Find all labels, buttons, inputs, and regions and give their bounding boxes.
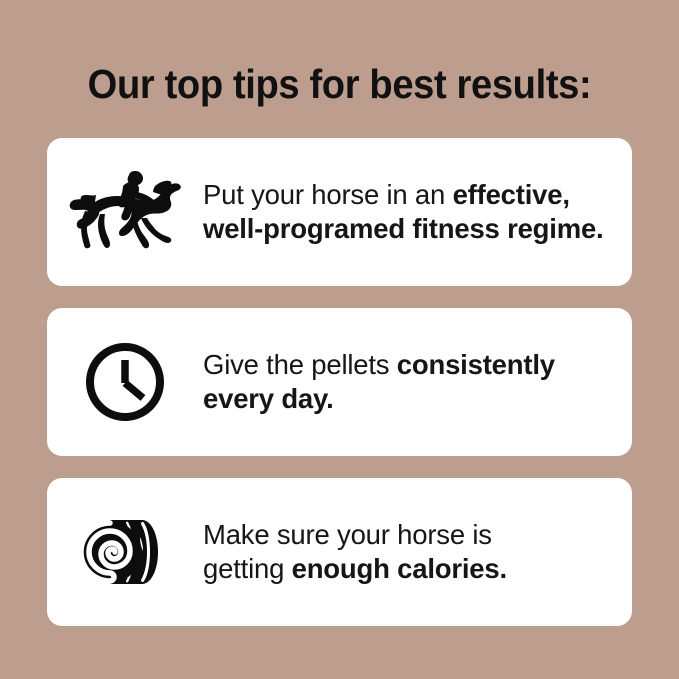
tip-line: Make sure your horse is bbox=[203, 518, 614, 552]
tip-line: Put your horse in an effective, bbox=[203, 178, 614, 212]
tip-text-bold: every day. bbox=[203, 383, 334, 414]
tip-line: getting enough calories. bbox=[203, 552, 614, 586]
tip-text: Make sure your horse is getting enough c… bbox=[203, 518, 632, 586]
tip-icon-slot bbox=[47, 138, 203, 286]
tip-text-bold: well-programed fitness regime. bbox=[203, 213, 604, 244]
tip-line: every day. bbox=[203, 382, 614, 416]
tip-icon-slot bbox=[47, 478, 203, 626]
tip-text: Give the pellets consistently every day. bbox=[203, 348, 632, 416]
hay-bale-icon bbox=[82, 517, 168, 587]
horse-rider-icon bbox=[69, 168, 181, 256]
tips-poster: Our top tips for best results: bbox=[0, 0, 679, 679]
tip-text-normal: Put your horse in an bbox=[203, 179, 453, 210]
tip-text-bold: effective, bbox=[453, 179, 570, 210]
tip-card-calories: Make sure your horse is getting enough c… bbox=[47, 478, 632, 626]
tip-text-bold: consistently bbox=[397, 349, 555, 380]
page-title: Our top tips for best results: bbox=[24, 60, 655, 108]
tip-text-normal: getting bbox=[203, 553, 292, 584]
tip-text: Put your horse in an effective, well-pro… bbox=[203, 178, 632, 246]
tips-card-list: Put your horse in an effective, well-pro… bbox=[47, 138, 632, 626]
tip-line: well-programed fitness regime. bbox=[203, 212, 614, 246]
tip-card-fitness-regime: Put your horse in an effective, well-pro… bbox=[47, 138, 632, 286]
tip-text-normal: Give the pellets bbox=[203, 349, 397, 380]
tip-icon-slot bbox=[47, 308, 203, 456]
tip-text-bold: enough calories. bbox=[292, 553, 507, 584]
tip-card-consistency: Give the pellets consistently every day. bbox=[47, 308, 632, 456]
clock-icon bbox=[85, 342, 165, 422]
tip-line: Give the pellets consistently bbox=[203, 348, 614, 382]
tip-text-normal: Make sure your horse is bbox=[203, 519, 492, 550]
